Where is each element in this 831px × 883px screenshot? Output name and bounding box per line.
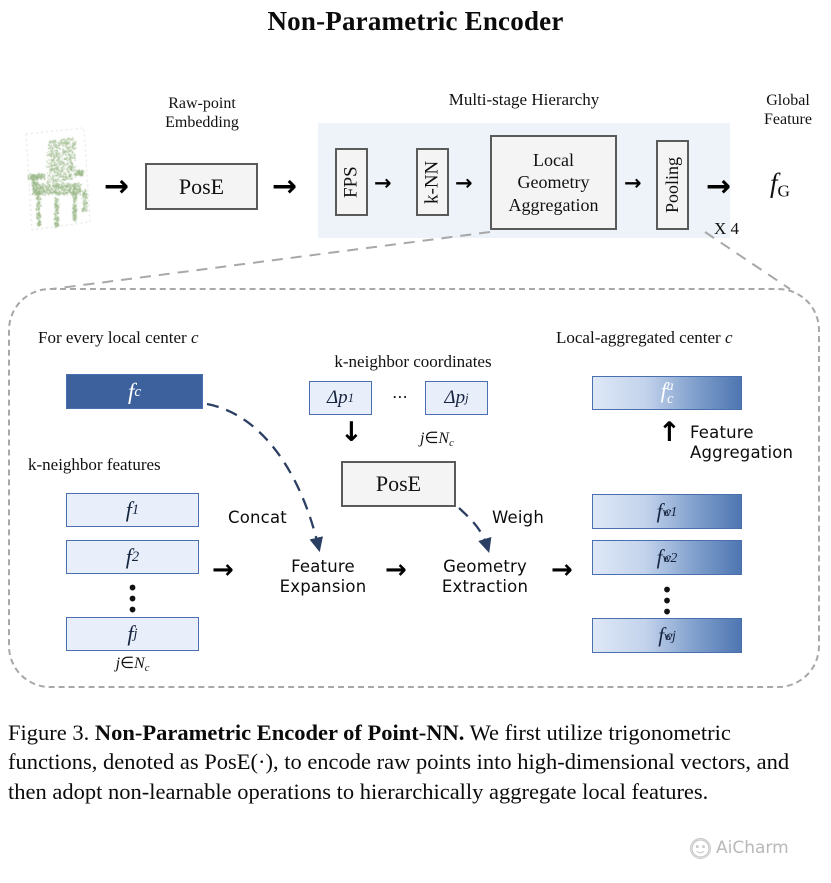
weigh-label: Weigh [492, 508, 564, 528]
aggregated-center-heading-italic: c [725, 328, 733, 347]
feature-aggregation-label: Feature Aggregation [690, 423, 815, 463]
page-title: Non-Parametric Encoder [0, 6, 831, 37]
feature-aggregation-line1: Feature [690, 423, 815, 443]
global-feature-sub: G [778, 181, 790, 200]
coord-box-1-text: Δp [327, 387, 348, 409]
lga-line2: Geometry [518, 171, 590, 193]
chair-point-cloud-image [12, 118, 100, 240]
arrow-knn-to-lga: → [455, 173, 473, 194]
neighbor-feature-ellipsis: ••• [66, 583, 199, 616]
raw-point-embedding-line1: Raw-point [138, 95, 266, 114]
arrow-lga-to-pooling: → [624, 173, 642, 194]
k-neighbor-features-heading: k-neighbor features [28, 455, 218, 475]
watermark: AiCharm [690, 833, 825, 863]
coord-box-j[interactable]: Δpj [425, 381, 488, 415]
global-feature-label: Global Feature [752, 92, 824, 130]
raw-point-embedding-label: Raw-point Embedding [138, 95, 266, 133]
neighbor-feature-bar-1[interactable]: f1 [66, 493, 199, 527]
stage-box-knn[interactable]: k-NN [416, 148, 449, 216]
arrow-pose-to-hierarchy: → [272, 172, 297, 202]
k-neighbor-coordinates-heading: k-neighbor coordinates [303, 352, 523, 372]
feature-expansion-line1: Feature [272, 557, 374, 577]
local-center-heading: For every local center c [38, 328, 338, 348]
neighbor-feature-2-sub: 2 [132, 549, 139, 566]
neighbor-feature-index-note: j∈Nc [66, 655, 199, 675]
global-feature-symbol: fG [770, 168, 790, 201]
arrow-extraction-to-weighted: → [551, 557, 573, 583]
global-feature-line2: Feature [752, 111, 824, 130]
arrow-fps-to-knn: → [374, 173, 392, 194]
local-center-heading-italic: c [191, 328, 199, 347]
weighted-feature-ellipsis: ••• [592, 585, 742, 618]
coord-box-1-sub: 1 [348, 391, 354, 406]
neighbor-feature-bar-j[interactable]: fj [66, 617, 199, 651]
weighted-feature-bar-2[interactable]: fwc2 [592, 540, 742, 575]
pose-box-top[interactable]: PosE [145, 163, 258, 210]
arrow-aggregation-up: ↑ [658, 419, 681, 446]
wf1-sub: c1 [664, 504, 677, 520]
stage-box-fps[interactable]: FPS [335, 148, 368, 216]
stage-box-local-geometry-aggregation[interactable]: Local Geometry Aggregation [490, 135, 617, 230]
feature-expansion-label: Feature Expansion [272, 557, 374, 597]
expander-line-left [52, 232, 490, 289]
figure-caption: Figure 3. Non-Parametric Encoder of Poin… [8, 718, 823, 806]
expander-line-right [705, 232, 790, 289]
global-feature-f: f [770, 168, 778, 198]
concat-label: Concat [228, 508, 310, 528]
wfj-sub: cj [666, 628, 676, 644]
weighted-feature-bar-j[interactable]: fwcj [592, 618, 742, 653]
caption-bold: Non-Parametric Encoder of Point-NN. [95, 720, 465, 745]
wf2-sub: c2 [664, 550, 677, 566]
local-center-heading-text: For every local center [38, 328, 187, 347]
panda-circle-icon [690, 838, 711, 859]
arrow-pointcloud-to-pose: → [104, 172, 129, 202]
weighted-feature-bar-1[interactable]: fwc1 [592, 494, 742, 529]
aggregated-feature-bar[interactable]: fac [592, 376, 742, 410]
lga-line3: Aggregation [509, 194, 599, 216]
aggregated-center-heading: Local-aggregated center c [556, 328, 831, 348]
arrow-neighbors-to-expansion: → [212, 557, 234, 583]
neighbor-feature-1-sub: 1 [132, 502, 139, 519]
neighbor-feature-j-sub: j [134, 626, 138, 643]
watermark-text: AiCharm [716, 838, 789, 858]
aggregated-feature-sub: c [667, 391, 673, 407]
lga-line1: Local [533, 149, 574, 171]
aggregated-center-heading-text: Local-aggregated center [556, 328, 721, 347]
raw-point-embedding-line2: Embedding [138, 114, 266, 133]
stage-box-pooling[interactable]: Pooling [656, 140, 689, 230]
geometry-extraction-line1: Geometry [430, 557, 540, 577]
arrow-pooling-to-global: → [706, 172, 731, 202]
coord-box-1[interactable]: Δp1 [309, 381, 372, 415]
caption-prefix: Figure 3. [8, 720, 95, 745]
coord-ellipsis: ⋯ [379, 387, 423, 406]
center-feature-bar[interactable]: fc [66, 374, 203, 409]
arrow-coords-to-pose: ↓ [340, 419, 363, 446]
feature-aggregation-line2: Aggregation [690, 443, 815, 463]
center-feature-sub: c [134, 383, 141, 401]
coord-index-note: j∈Nc [420, 430, 530, 450]
global-feature-line1: Global [752, 92, 824, 111]
neighbor-feature-bar-2[interactable]: f2 [66, 540, 199, 574]
pose-box-detail[interactable]: PosE [341, 461, 456, 507]
feature-expansion-line2: Expansion [272, 577, 374, 597]
repeat-count-label: X 4 [714, 219, 764, 239]
geometry-extraction-label: Geometry Extraction [430, 557, 540, 597]
geometry-extraction-line2: Extraction [430, 577, 540, 597]
multi-stage-hierarchy-label: Multi-stage Hierarchy [404, 90, 644, 110]
coord-box-j-text: Δp [444, 387, 465, 409]
arrow-expansion-to-extraction: → [385, 557, 407, 583]
coord-box-j-sub: j [465, 391, 468, 406]
